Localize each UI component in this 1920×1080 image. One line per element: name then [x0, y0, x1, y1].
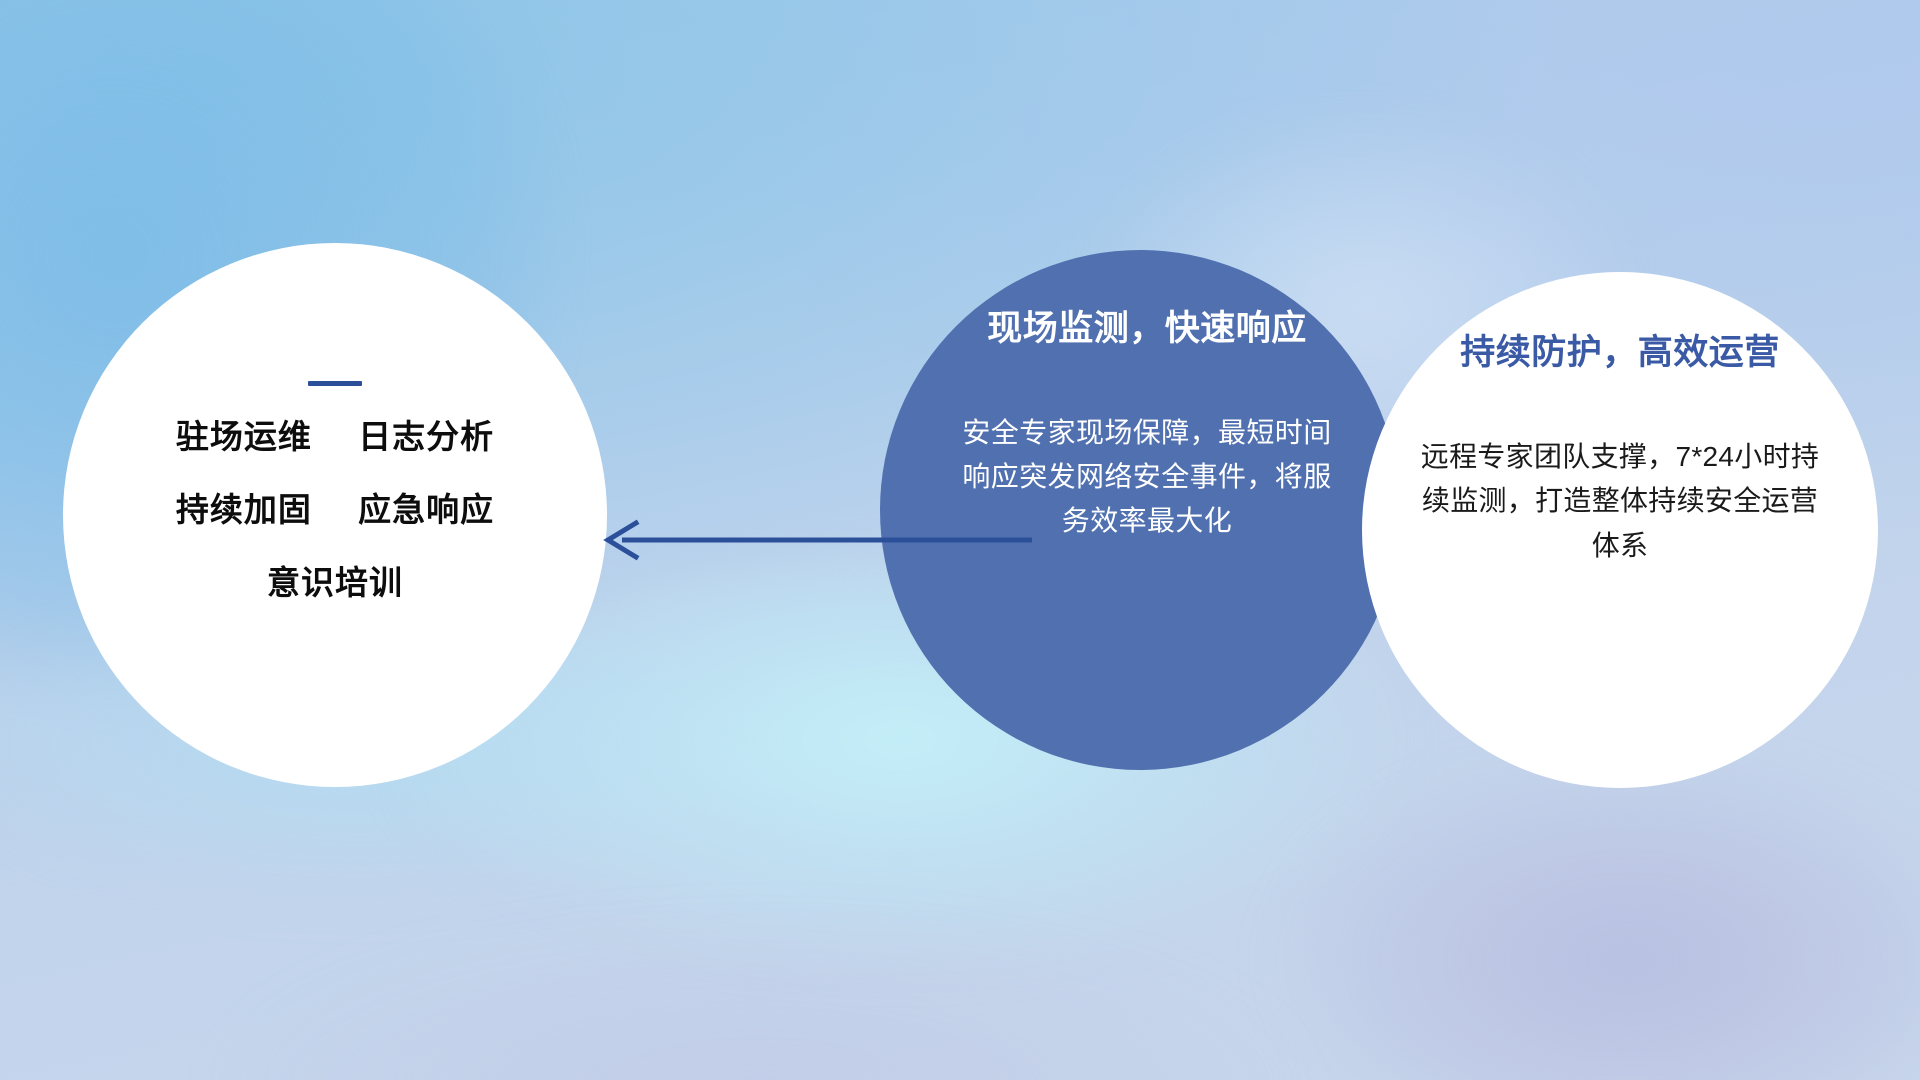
middle-circle-title: 现场监测，快速响应	[916, 310, 1378, 349]
keyword-row: 意识培训	[119, 566, 551, 599]
slide-canvas: 现场监测，快速响应 安全专家现场保障，最短时间响应突发网络安全事件，将服务效率最…	[0, 0, 1920, 1080]
horizontal-dash-icon	[308, 381, 362, 386]
right-circle-content: 持续防护，高效运营 远程专家团队支撑，7*24小时持续监测，打造整体持续安全运营…	[1378, 334, 1862, 569]
keyword-item: 持续加固	[176, 491, 312, 528]
middle-circle-content: 现场监测，快速响应 安全专家现场保障，最短时间响应突发网络安全事件，将服务效率最…	[916, 310, 1378, 543]
middle-circle-card[interactable]: 现场监测，快速响应 安全专家现场保障，最短时间响应突发网络安全事件，将服务效率最…	[880, 250, 1400, 770]
right-circle-card[interactable]: 持续防护，高效运营 远程专家团队支撑，7*24小时持续监测，打造整体持续安全运营…	[1362, 272, 1878, 788]
arrow-left-icon	[596, 512, 1036, 568]
left-circle-content: 驻场运维 日志分析 持续加固 应急响应 意识培训	[63, 381, 607, 599]
keyword-item: 驻场运维	[176, 418, 312, 455]
keyword-item: 意识培训	[267, 564, 403, 601]
keyword-row: 驻场运维 日志分析	[119, 420, 551, 453]
keyword-item: 应急响应	[358, 491, 494, 528]
keyword-row: 持续加固 应急响应	[119, 493, 551, 526]
left-circle-card[interactable]: 驻场运维 日志分析 持续加固 应急响应 意识培训	[63, 243, 607, 787]
right-circle-body: 远程专家团队支撑，7*24小时持续监测，打造整体持续安全运营体系	[1378, 435, 1862, 569]
background-lavender-swoosh-2	[60, 880, 1460, 1080]
keyword-item: 日志分析	[358, 418, 494, 455]
right-circle-title: 持续防护，高效运营	[1378, 334, 1862, 373]
